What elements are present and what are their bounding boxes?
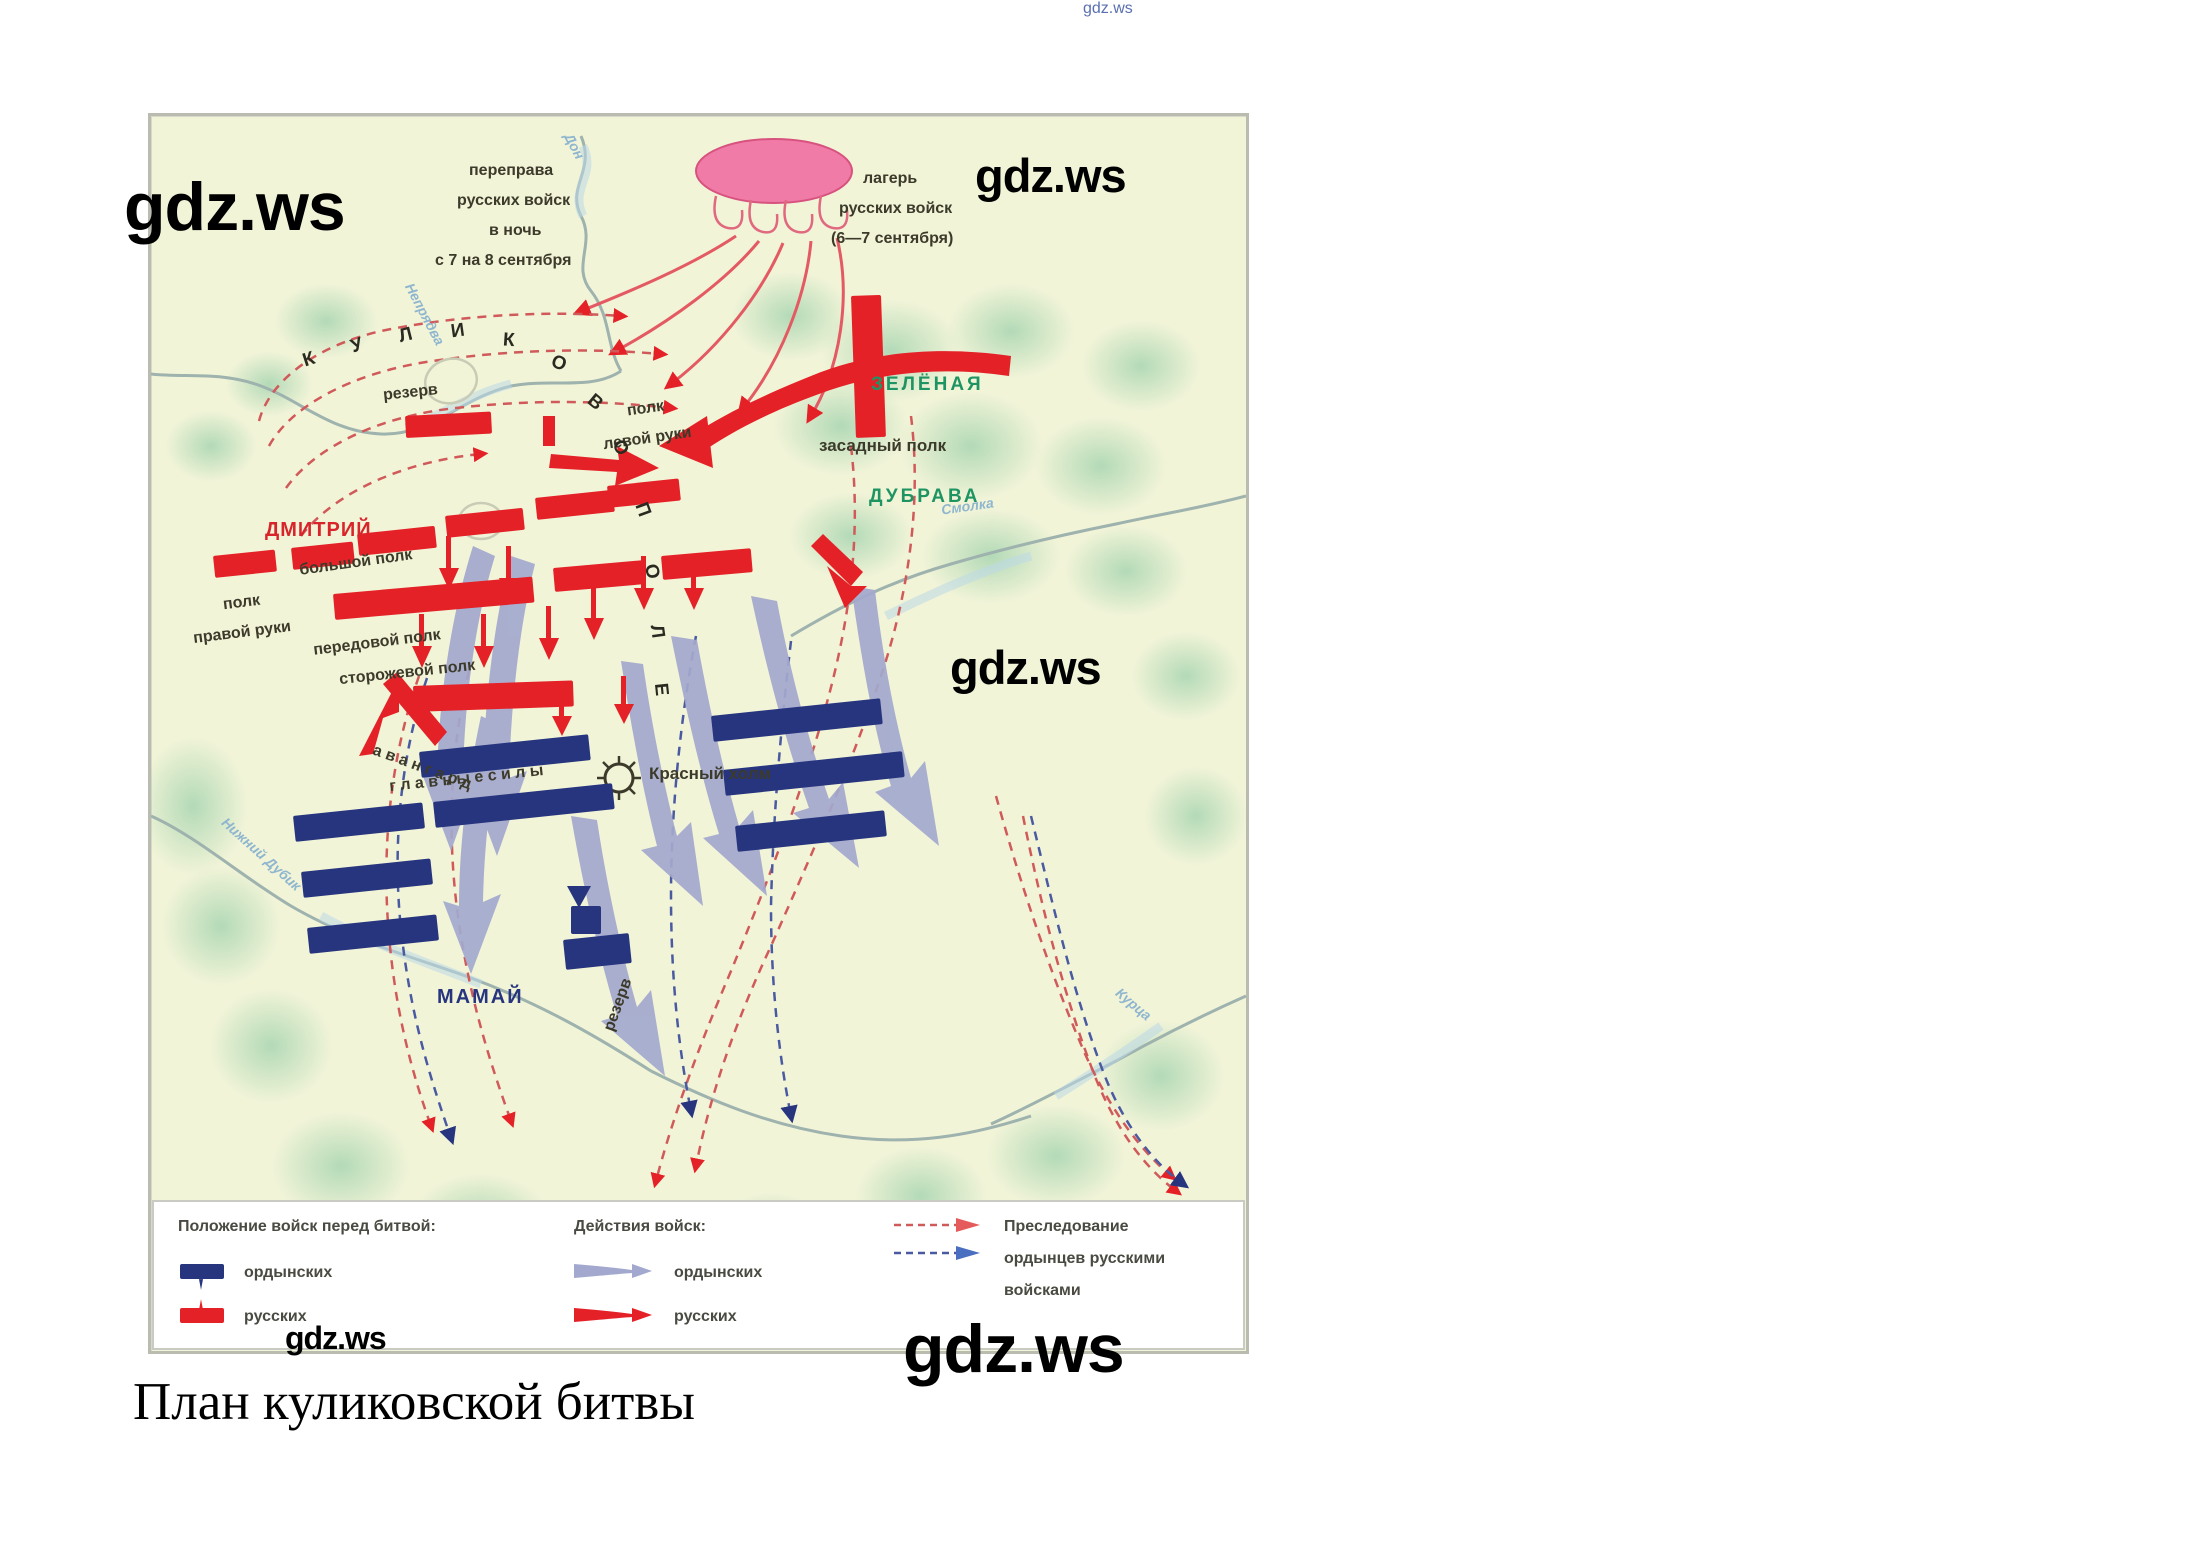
- label-red-hill: Красный холм: [649, 764, 771, 784]
- legend-arrow-russian-action: [574, 1304, 654, 1326]
- label-field-letter-O3: О: [639, 562, 665, 588]
- map-canvas: переправа русских войск в ночь с 7 на 8 …: [151, 116, 1246, 1351]
- legend-swatch-horde-position: [180, 1264, 224, 1279]
- label-crossing-line-1: переправа: [469, 162, 553, 180]
- watermark-1: gdz.ws: [1083, 0, 1133, 18]
- unit-left-hand: [661, 548, 753, 580]
- label-camp-line-1: лагерь: [863, 170, 917, 188]
- legend-item-horde-position: ордынских: [244, 1264, 332, 1282]
- label-field-letter-L2: Л: [645, 623, 670, 646]
- legend-pursuit-line-3: войсками: [1004, 1282, 1081, 1300]
- legend-pursuit-line-1: Преследование: [1004, 1218, 1129, 1236]
- legend-left-title: Положение войск перед битвой:: [178, 1218, 436, 1236]
- legend-middle-title: Действия войск:: [574, 1218, 706, 1236]
- watermark-4: gdz.ws: [950, 640, 1101, 695]
- battle-map: переправа русских войск в ночь с 7 на 8 …: [148, 113, 1249, 1354]
- label-green-oak-1: ЗЕЛЁНАЯ: [871, 374, 984, 396]
- page-title: План куликовской битвы: [133, 1372, 695, 1432]
- watermark-3: gdz.ws: [975, 148, 1126, 203]
- legend-tick-horde: [199, 1278, 203, 1291]
- legend-tick-russian: [199, 1298, 203, 1311]
- legend-arrow-horde-action: [574, 1260, 654, 1282]
- label-crossing-line-4: с 7 на 8 сентября: [435, 252, 571, 270]
- map-graphics: [151, 116, 1246, 1351]
- label-crossing-line-2: русских войск: [457, 192, 570, 210]
- unit-ambush: [851, 295, 886, 438]
- unit-guard: [413, 680, 574, 712]
- label-camp-line-3: (6—7 сентября): [831, 230, 953, 248]
- label-camp-line-2: русских войск: [839, 200, 952, 218]
- label-dmitry: ДМИТРИЙ: [265, 519, 372, 542]
- legend-item-russian-action: русских: [674, 1308, 737, 1326]
- label-field-letter-K2: К: [502, 329, 522, 352]
- label-mamai: МАМАЙ: [437, 986, 524, 1009]
- label-ambush-regiment: засадный полк: [819, 436, 946, 456]
- legend-arrow-pursuit-red: [894, 1216, 984, 1234]
- label-crossing-line-3: в ночь: [489, 222, 541, 240]
- legend-item-horde-action: ордынских: [674, 1264, 762, 1282]
- watermark-6: gdz.ws: [903, 1310, 1124, 1388]
- label-green-oak-2: ДУБРАВА: [869, 486, 980, 508]
- watermark-5: gdz.ws: [285, 1320, 386, 1357]
- label-field-letter-E: Е: [649, 682, 673, 704]
- legend-pursuit-line-2: ордынцев русскими: [1004, 1250, 1165, 1268]
- unit-reserve: [405, 411, 492, 437]
- russian-camp: [696, 139, 852, 232]
- watermark-2: gdz.ws: [124, 168, 345, 246]
- label-field-letter-I: И: [450, 319, 474, 344]
- legend-arrow-pursuit-blue: [894, 1244, 984, 1262]
